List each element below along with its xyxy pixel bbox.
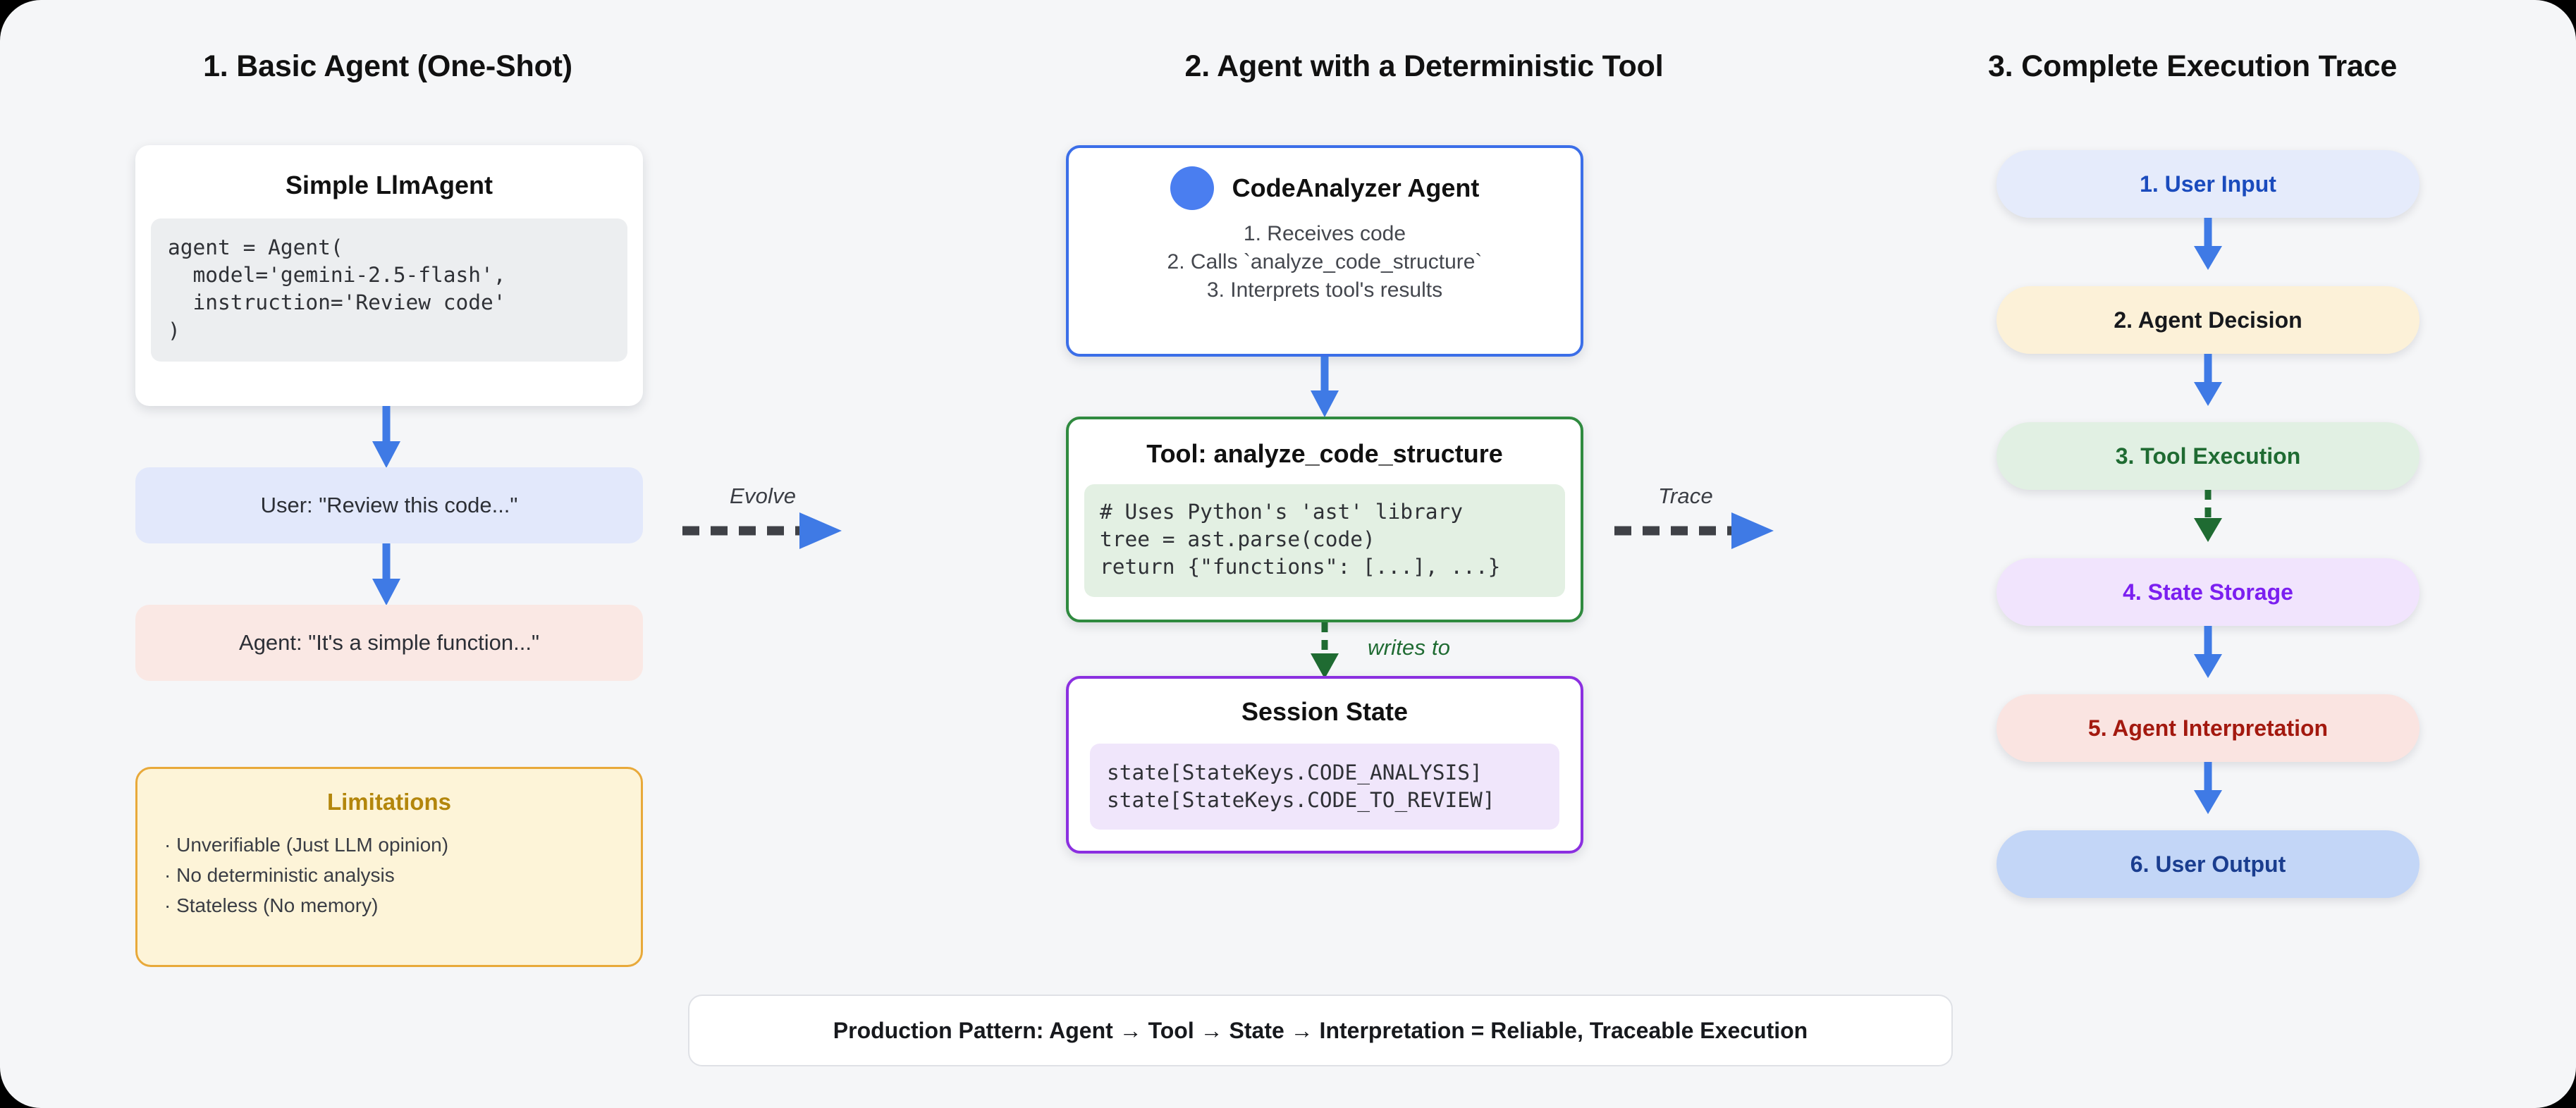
trace-step-user-output[interactable]: 6. User Output (1997, 830, 2419, 898)
arrow-agent-to-user (365, 406, 407, 469)
user-message-text: User: "Review this code..." (261, 493, 518, 518)
trace-step-state-storage[interactable]: 4. State Storage (1997, 558, 2419, 626)
agent-step: 2. Calls `analyze_code_structure` (1069, 248, 1581, 276)
agent-message-text: Agent: "It's a simple function..." (239, 630, 539, 655)
agent-step: 1. Receives code (1069, 220, 1581, 248)
simple-llmagent-title: Simple LlmAgent (135, 171, 643, 200)
tool-card-title: Tool: analyze_code_structure (1069, 439, 1581, 469)
tool-card-code: # Uses Python's 'ast' library tree = ast… (1084, 484, 1565, 597)
production-pattern-text: Production Pattern: Agent → Tool → State… (833, 1018, 1808, 1044)
arrow-step-2-to-3 (2189, 354, 2227, 407)
column-title-basic-agent: 1. Basic Agent (One-Shot) (0, 49, 775, 84)
session-state-code: state[StateKeys.CODE_ANALYSIS] state[Sta… (1090, 744, 1559, 830)
agent-step: 3. Interprets tool's results (1069, 276, 1581, 304)
arrow-step-5-to-6 (2189, 762, 2227, 815)
session-state-title: Session State (1069, 697, 1581, 727)
arrow-evolve (682, 511, 866, 553)
column-title-deterministic-tool: 2. Agent with a Deterministic Tool (902, 49, 1946, 84)
limitations-card: Limitations · Unverifiable (Just LLM opi… (135, 767, 643, 967)
arrow-step-1-to-2 (2189, 218, 2227, 271)
arrow-tool-to-state (1306, 622, 1344, 680)
trace-step-label: 6. User Output (2130, 851, 2286, 878)
limitation-item: · No deterministic analysis (164, 860, 641, 890)
arrow-step-3-to-4 (2189, 490, 2227, 543)
trace-step-label: 1. User Input (2140, 171, 2276, 197)
codeanalyzer-agent-title: CodeAnalyzer Agent (1232, 173, 1480, 203)
simple-llmagent-code: agent = Agent( model='gemini-2.5-flash',… (151, 218, 627, 362)
limitation-item: · Unverifiable (Just LLM opinion) (164, 830, 641, 860)
arrow-user-to-agent-reply (365, 543, 407, 607)
trace-step-agent-decision[interactable]: 2. Agent Decision (1997, 286, 2419, 354)
codeanalyzer-agent-card[interactable]: CodeAnalyzer Agent 1. Receives code 2. C… (1066, 145, 1583, 357)
trace-step-user-input[interactable]: 1. User Input (1997, 150, 2419, 218)
trace-step-tool-execution[interactable]: 3. Tool Execution (1997, 422, 2419, 490)
column-title-execution-trace: 3. Complete Execution Trace (1805, 49, 2576, 84)
diagram-canvas: 1. Basic Agent (One-Shot) 2. Agent with … (0, 0, 2576, 1108)
session-state-card[interactable]: Session State state[StateKeys.CODE_ANALY… (1066, 676, 1583, 854)
connector-label-evolve: Evolve (730, 484, 796, 509)
simple-llmagent-card[interactable]: Simple LlmAgent agent = Agent( model='ge… (135, 145, 643, 406)
connector-label-writes-to: writes to (1368, 635, 1450, 660)
trace-step-label: 2. Agent Decision (2114, 307, 2302, 333)
trace-step-label: 3. Tool Execution (2116, 443, 2301, 469)
arrow-trace (1614, 511, 1798, 553)
trace-step-agent-interpretation[interactable]: 5. Agent Interpretation (1997, 694, 2419, 762)
user-message-box[interactable]: User: "Review this code..." (135, 467, 643, 543)
trace-step-label: 4. State Storage (2123, 579, 2293, 605)
arrow-step-4-to-5 (2189, 626, 2227, 679)
trace-step-label: 5. Agent Interpretation (2088, 715, 2328, 741)
connector-label-trace: Trace (1658, 484, 1713, 509)
limitation-item: · Stateless (No memory) (164, 890, 641, 921)
production-pattern-banner: Production Pattern: Agent → Tool → State… (688, 995, 1953, 1066)
agent-message-box[interactable]: Agent: "It's a simple function..." (135, 605, 643, 681)
agent-dot-icon (1170, 166, 1214, 210)
limitations-title: Limitations (137, 789, 641, 815)
arrow-agent-to-tool (1304, 357, 1346, 419)
tool-analyze-code-structure-card[interactable]: Tool: analyze_code_structure # Uses Pyth… (1066, 417, 1583, 622)
